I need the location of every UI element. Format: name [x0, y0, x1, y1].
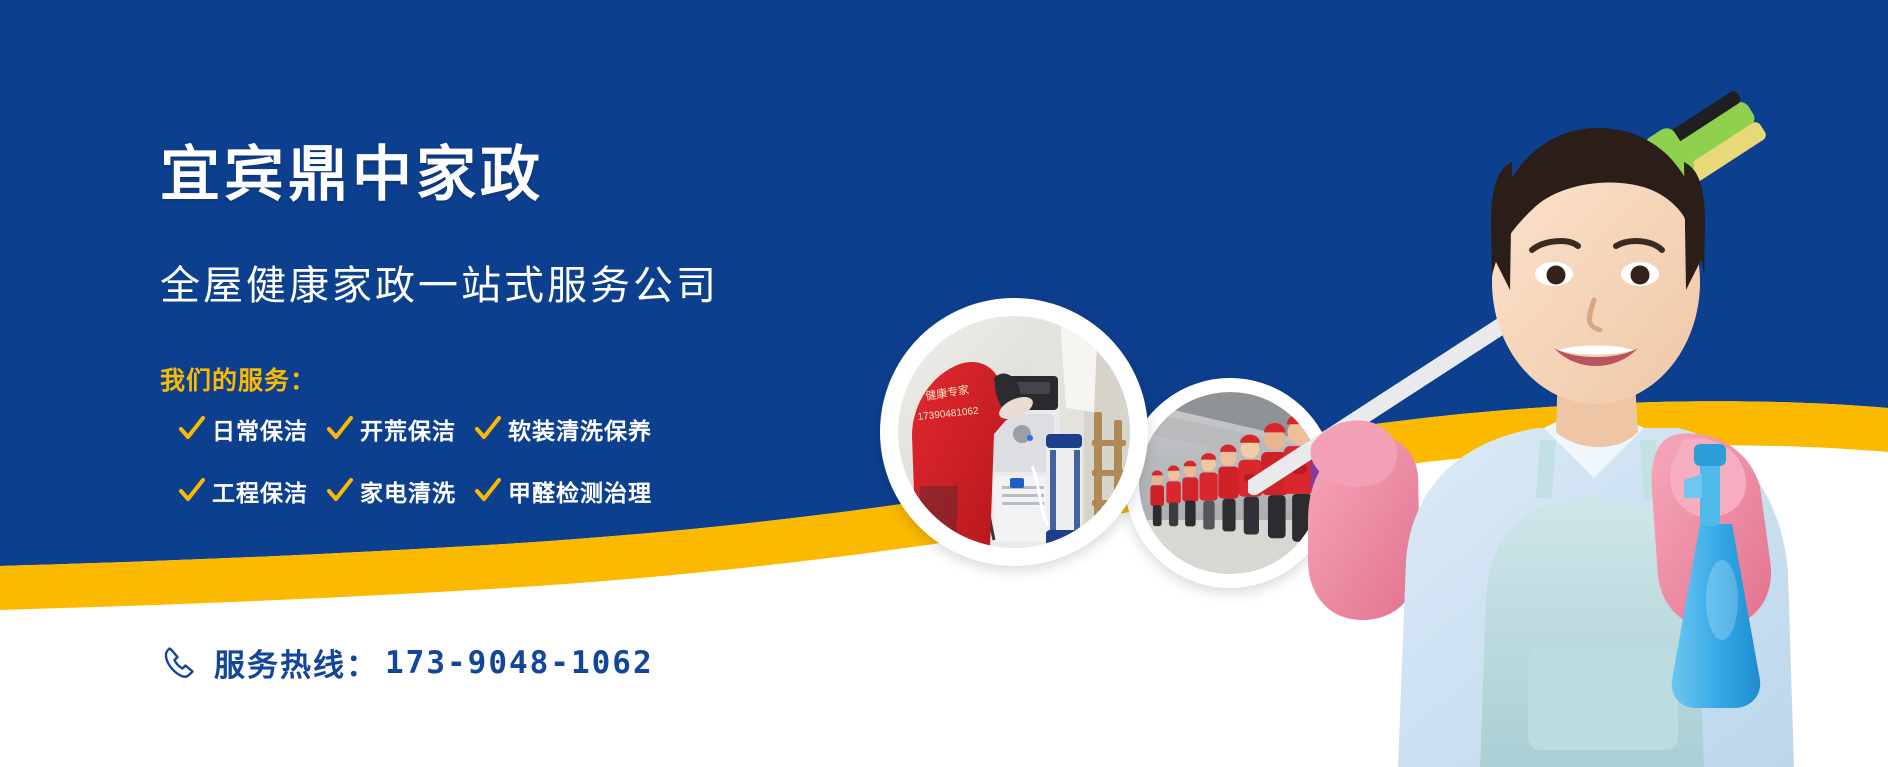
- service-label: 软装清洗保养: [508, 412, 652, 446]
- service-item-formaldehyde-treatment[interactable]: 甲醛检测治理: [474, 474, 652, 508]
- services-row-2: 工程保洁 家电清洗 甲醛检测治理: [178, 466, 698, 516]
- check-icon: [326, 477, 354, 505]
- hotline[interactable]: 服务热线： 173-9048-1062: [160, 640, 654, 685]
- photo-cleaning-equipment: 健康专家 17390481062: [880, 298, 1148, 566]
- hotline-label: 服务热线：: [214, 640, 379, 685]
- service-label: 开荒保洁: [360, 412, 456, 446]
- check-icon: [474, 477, 502, 505]
- photo-cleaning-equipment-image: 健康专家 17390481062: [898, 316, 1130, 548]
- service-label: 甲醛检测治理: [508, 474, 652, 508]
- service-item-daily-cleaning[interactable]: 日常保洁: [178, 412, 308, 446]
- service-label: 家电清洗: [360, 474, 456, 508]
- check-icon: [178, 477, 206, 505]
- photo-staff-team: [1125, 378, 1335, 588]
- service-label: 日常保洁: [212, 412, 308, 446]
- brand-title: 宜宾鼎中家政: [160, 142, 544, 208]
- check-icon: [178, 415, 206, 443]
- cleaning-equipment-illustration: 健康专家 17390481062: [898, 316, 1130, 548]
- check-icon: [474, 415, 502, 443]
- check-icon: [326, 415, 354, 443]
- service-item-construction-cleaning[interactable]: 工程保洁: [178, 474, 308, 508]
- services-heading: 我们的服务：: [160, 366, 316, 396]
- photo-staff-team-image: [1139, 392, 1321, 574]
- service-item-appliance-cleaning[interactable]: 家电清洗: [326, 474, 456, 508]
- staff-team-illustration: [1139, 392, 1321, 574]
- services-list: 日常保洁 开荒保洁 软装清洗保养: [178, 404, 698, 516]
- service-item-soft-furnishing-care[interactable]: 软装清洗保养: [474, 412, 652, 446]
- phone-icon: [160, 643, 200, 683]
- promotional-banner: 宜宾鼎中家政 全屋健康家政一站式服务公司 我们的服务： 日常保洁 开荒保洁: [0, 0, 1888, 767]
- service-item-post-renovation-cleaning[interactable]: 开荒保洁: [326, 412, 456, 446]
- services-row-1: 日常保洁 开荒保洁 软装清洗保养: [178, 404, 698, 454]
- brand-subtitle: 全屋健康家政一站式服务公司: [160, 262, 719, 310]
- service-label: 工程保洁: [212, 474, 308, 508]
- hotline-number: 173-9048-1062: [385, 645, 654, 681]
- banner-content: 宜宾鼎中家政 全屋健康家政一站式服务公司 我们的服务： 日常保洁 开荒保洁: [0, 0, 900, 767]
